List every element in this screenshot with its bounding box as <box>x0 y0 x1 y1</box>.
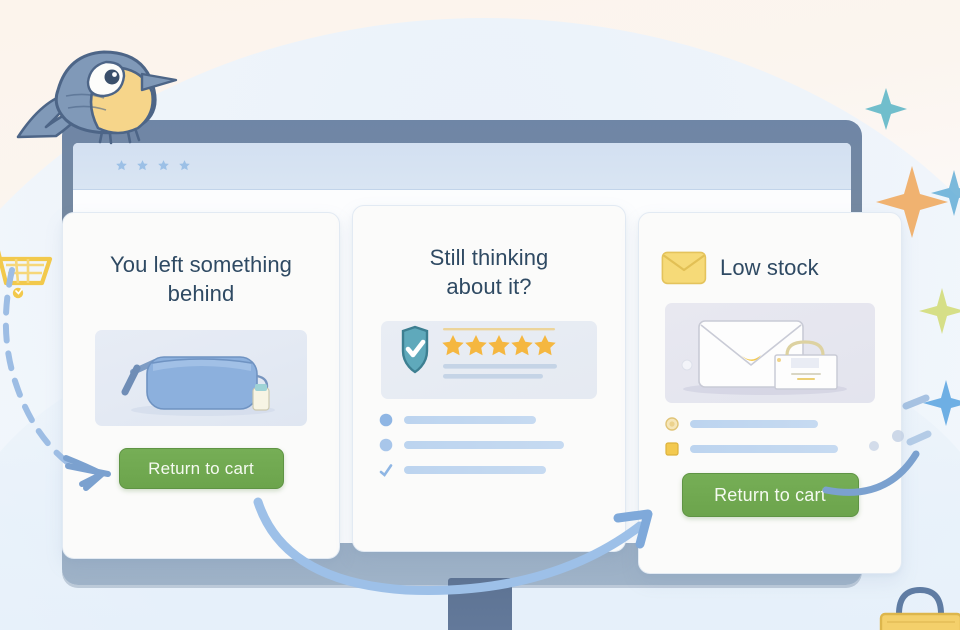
bullet-circle-icon <box>379 438 393 452</box>
coin-icon <box>665 417 679 431</box>
illustration-canvas: You left something behind Return to cart… <box>0 0 960 630</box>
card-3-return-to-cart-button[interactable]: Return to cart <box>682 473 859 517</box>
card-3-header: Low stock <box>661 251 901 285</box>
list-item-text-bar <box>404 441 564 449</box>
star-icon <box>136 159 149 172</box>
card-1-title: You left something behind <box>83 251 319 308</box>
list-item <box>379 463 625 477</box>
card-3-product-image <box>665 303 875 403</box>
list-item <box>665 442 901 456</box>
card-1-return-to-cart-button[interactable]: Return to cart <box>119 448 284 489</box>
monitor-stand <box>448 578 512 630</box>
check-icon <box>379 463 393 477</box>
card-3-feature-list <box>665 417 901 456</box>
browser-star-row <box>115 159 191 172</box>
list-item <box>379 438 625 452</box>
star-icon <box>157 159 170 172</box>
blue-pouch-bag-illustration <box>95 330 307 426</box>
card-2-trust-badge-image <box>381 321 597 399</box>
list-item-text-bar <box>690 420 818 428</box>
card-2-title: Still thinking about it? <box>373 244 605 301</box>
card-right-low-stock[interactable]: Low stock <box>638 212 902 574</box>
list-item-text-bar <box>690 445 838 453</box>
bullet-circle-icon <box>379 413 393 427</box>
card-1-product-image <box>95 330 307 426</box>
envelope-and-bag-illustration <box>665 303 875 403</box>
envelope-icon <box>661 251 707 285</box>
card-2-feature-list <box>379 413 625 477</box>
rating-stars <box>442 335 555 355</box>
card-2-title-line1: Still thinking <box>430 245 549 270</box>
square-badge-icon <box>665 442 679 456</box>
card-3-title: Low stock <box>720 254 819 283</box>
list-item <box>665 417 901 431</box>
star-icon <box>178 159 191 172</box>
list-item <box>379 413 625 427</box>
list-item-text-bar <box>404 416 536 424</box>
list-item-text-bar <box>404 466 546 474</box>
card-1-title-line2: behind <box>168 281 235 306</box>
browser-toolbar[interactable] <box>73 143 851 190</box>
shield-and-stars-illustration <box>381 321 597 399</box>
card-middle-still-thinking[interactable]: Still thinking about it? <box>352 205 626 552</box>
card-left-abandoned-cart[interactable]: You left something behind Return to cart <box>62 212 340 559</box>
card-1-title-line1: You left something <box>110 252 292 277</box>
card-2-title-line2: about it? <box>446 274 531 299</box>
star-icon <box>115 159 128 172</box>
